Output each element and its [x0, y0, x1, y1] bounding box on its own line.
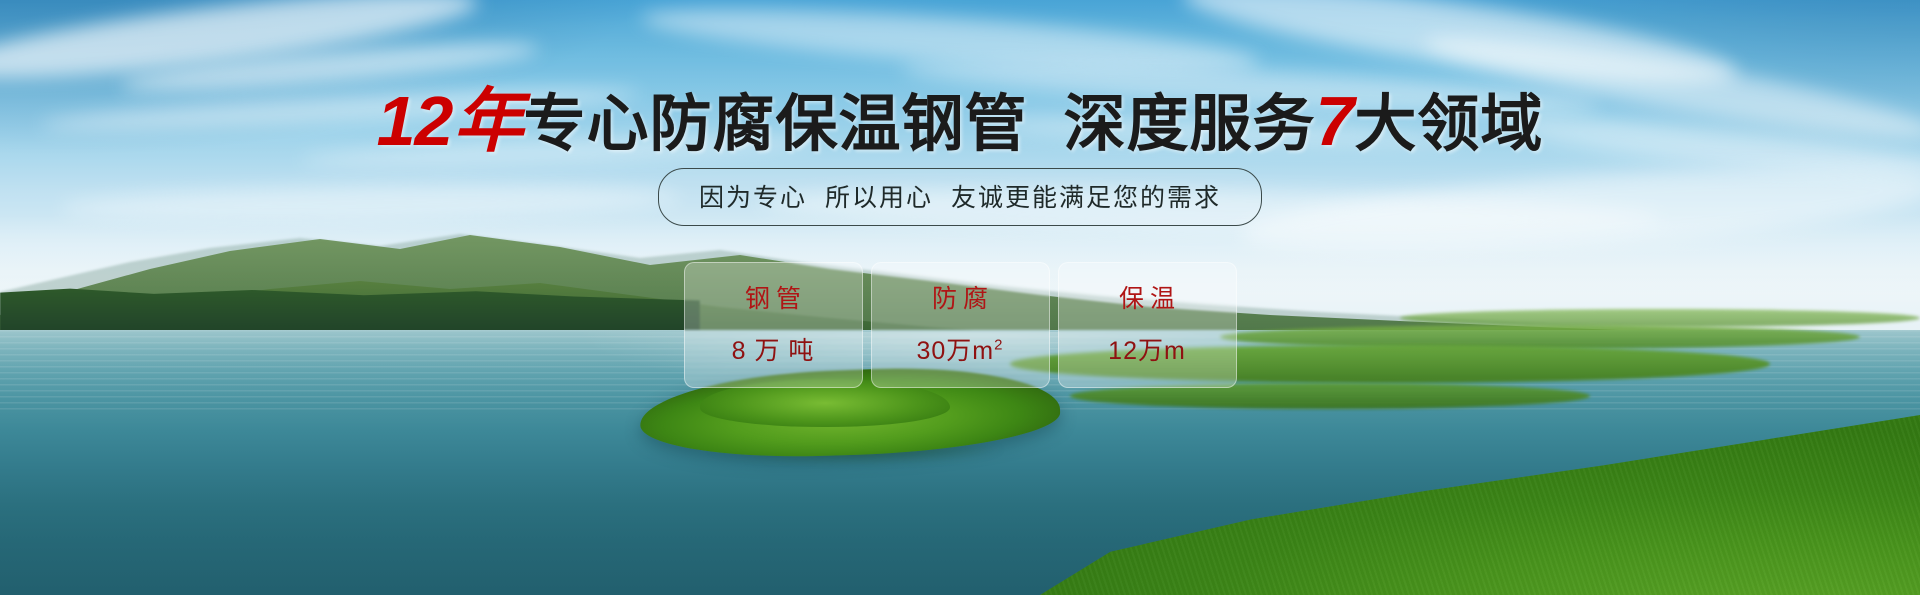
subtitle-part-2: 所以用心 [825, 184, 933, 212]
headline-service-text: 深度服务 [1063, 90, 1315, 159]
headline-fields-number: 7 [1315, 82, 1353, 160]
stat-value-text: 8 万 吨 [732, 337, 815, 365]
stat-value: 30万m2 [878, 331, 1043, 367]
subtitle-pill: 因为专心所以用心友诚更能满足您的需求 [658, 168, 1262, 226]
headline-years-unit: 年 [453, 82, 522, 160]
subtitle-part-1: 因为专心 [699, 184, 807, 212]
stat-label: 钢管 [691, 279, 856, 315]
headline-main-text: 专心防腐保温钢管 [523, 90, 1027, 159]
stat-label: 保温 [1065, 279, 1230, 315]
stat-label: 防腐 [878, 279, 1043, 315]
subtitle-wrapper: 因为专心所以用心友诚更能满足您的需求 [0, 168, 1920, 226]
headline-years-number: 12 [377, 82, 453, 160]
stat-value-superscript: 2 [994, 337, 1003, 354]
headline-fields-text: 大领域 [1354, 90, 1543, 159]
headline: 12年专心防腐保温钢管深度服务7大领域 [0, 86, 1920, 156]
stat-value: 8 万 吨 [691, 331, 856, 367]
stat-value-text: 30万m [917, 337, 995, 365]
subtitle-part-3: 友诚更能满足您的需求 [951, 184, 1221, 212]
stat-card-anticorrosion: 防腐 30万m2 [871, 262, 1050, 388]
stat-card-steel-pipe: 钢管 8 万 吨 [684, 262, 863, 388]
promo-banner: 12年专心防腐保温钢管深度服务7大领域 因为专心所以用心友诚更能满足您的需求 钢… [0, 0, 1920, 595]
stat-value: 12万m [1065, 331, 1230, 367]
stat-value-text: 12万m [1108, 337, 1186, 365]
stat-card-insulation: 保温 12万m [1058, 262, 1237, 388]
stat-card-group: 钢管 8 万 吨 防腐 30万m2 保温 12万m [0, 262, 1920, 388]
banner-content: 12年专心防腐保温钢管深度服务7大领域 因为专心所以用心友诚更能满足您的需求 钢… [0, 0, 1920, 595]
